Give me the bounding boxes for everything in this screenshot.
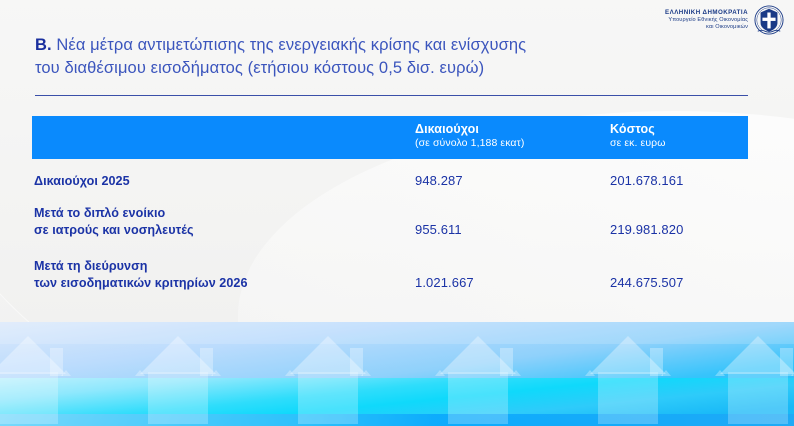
title-marker: B. [35,36,52,54]
row-label: Δικαιούχοι 2025 [34,173,130,190]
table-header-row: Δικαιούχοι (σε σύνολο 1,188 εκατ) Κόστος… [32,116,748,159]
column-header-beneficiaries: Δικαιούχοι (σε σύνολο 1,188 εκατ) [415,121,524,151]
row-label-line2: των εισοδηματικών κριτηρίων 2026 [34,276,248,290]
houses-silhouette-band [0,322,794,426]
row-beneficiaries-value: 948.287 [415,173,463,188]
houses-silhouette-svg [0,322,794,426]
column-header-cost-sub: σε εκ. ευρω [610,137,666,151]
logo-line-ministry-cont: και Οικονομικών [665,24,748,31]
slide-title: B. Νέα μέτρα αντιμετώπισης της ενεργειακ… [35,34,735,81]
title-line-1: Νέα μέτρα αντιμετώπισης της ενεργειακής … [52,36,527,54]
column-header-cost: Κόστος σε εκ. ευρω [610,121,666,151]
title-line-2: του διαθέσιμου εισοδήματος (ετήσιου κόστ… [35,59,484,77]
measures-table: Δικαιούχοι (σε σύνολο 1,188 εκατ) Κόστος… [32,116,748,307]
logo-line-ministry: Υπουργείο Εθνικής Οικονομίας [665,17,748,24]
column-header-cost-title: Κόστος [610,121,666,137]
logo-line-republic: ΕΛΛΗΝΙΚΗ ΔΗΜΟΚΡΑΤΙΑ [665,9,748,17]
column-header-beneficiaries-sub: (σε σύνολο 1,188 εκατ) [415,137,524,151]
table-row: Δικαιούχοι 2025 948.287 201.678.161 [32,159,748,201]
row-label: Μετά τη διεύρυνση των εισοδηματικών κριτ… [34,258,248,292]
row-label-line1: Μετά τη διεύρυνση [34,259,148,273]
row-label-line1: Μετά το διπλό ενοίκιο [34,206,165,220]
row-label-line2: σε ιατρούς και νοσηλευτές [34,223,194,237]
slide-root: ΕΛΛΗΝΙΚΗ ΔΗΜΟΚΡΑΤΙΑ Υπουργείο Εθνικής Οι… [0,0,794,426]
row-cost-value: 244.675.507 [610,275,683,290]
table-row: Μετά τη διεύρυνση των εισοδηματικών κριτ… [32,254,748,307]
ministry-logo-text: ΕΛΛΗΝΙΚΗ ΔΗΜΟΚΡΑΤΙΑ Υπουργείο Εθνικής Οι… [665,9,748,31]
ministry-logo: ΕΛΛΗΝΙΚΗ ΔΗΜΟΚΡΑΤΙΑ Υπουργείο Εθνικής Οι… [665,5,784,35]
row-cost-value: 219.981.820 [610,222,683,237]
row-beneficiaries-value: 1.021.667 [415,275,474,290]
row-cost-value: 201.678.161 [610,173,683,188]
column-header-beneficiaries-title: Δικαιούχοι [415,121,524,137]
title-divider [35,95,748,96]
row-label: Μετά το διπλό ενοίκιο σε ιατρούς και νοσ… [34,205,194,239]
row-label-line1: Δικαιούχοι 2025 [34,174,130,188]
table-row: Μετά το διπλό ενοίκιο σε ιατρούς και νοσ… [32,201,748,254]
row-beneficiaries-value: 955.611 [415,222,462,237]
greek-coat-of-arms-icon [754,5,784,35]
